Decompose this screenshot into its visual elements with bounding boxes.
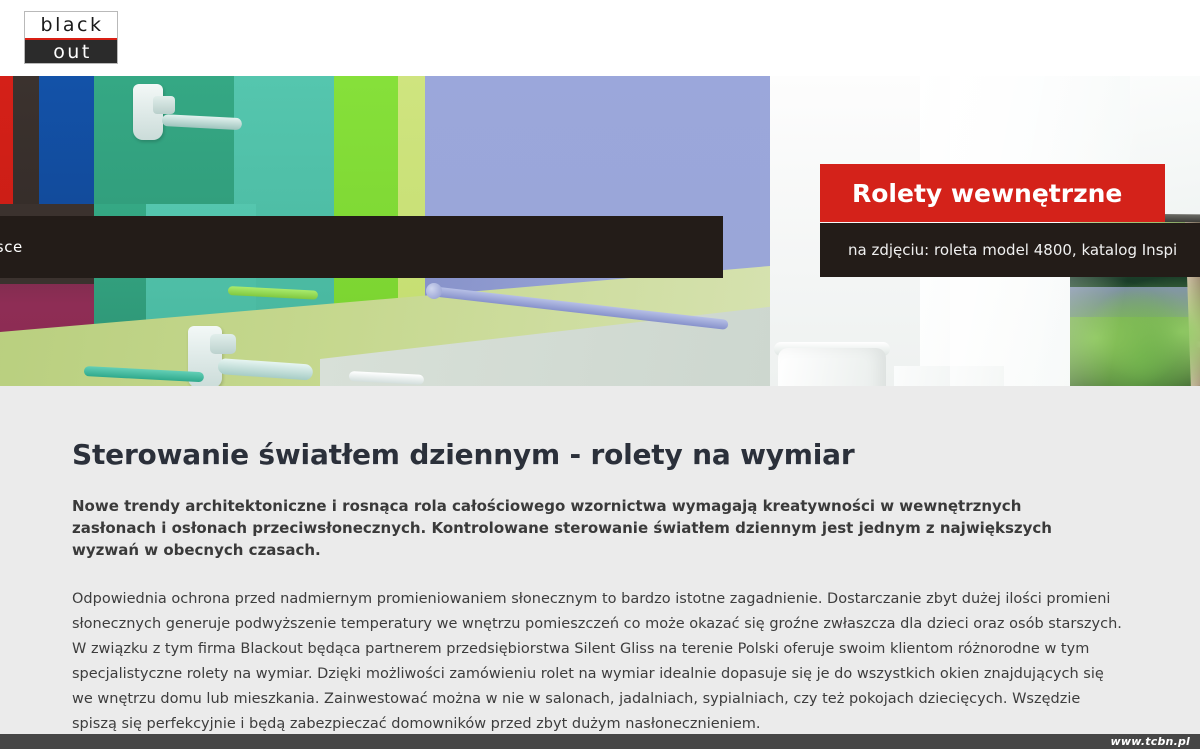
logo-text-out: out [50, 43, 92, 62]
page-title: Sterowanie światłem dziennym - rolety na… [72, 438, 1128, 471]
logo-bottom-block: out [25, 40, 117, 64]
planter-pot [778, 348, 886, 386]
watermark-bar: www.tcbn.pl [0, 734, 1200, 749]
logo-text-black: black [39, 16, 104, 35]
logo-top-block: black [25, 12, 117, 38]
hero-caption-text: na zdjęciu: roleta model 4800, katalog I… [848, 241, 1177, 259]
body-paragraph: Odpowiednia ochrona przed nadmiernym pro… [72, 587, 1128, 737]
site-header: black out [0, 0, 1200, 76]
page-root: black out [0, 0, 1200, 749]
hero-red-banner: Rolety wewnętrzne [820, 164, 1165, 222]
watermark-text: www.tcbn.pl [1111, 735, 1190, 748]
hero-caption-bar: na zdjęciu: roleta model 4800, katalog I… [820, 223, 1200, 277]
hero-carousel[interactable]: nt Gliss w Polsce Rolety wewnętrzne na z… [0, 76, 1200, 386]
blind-bracket-lower-cap [210, 334, 236, 354]
main-content: Sterowanie światłem dziennym - rolety na… [0, 386, 1200, 734]
partner-banner-regular: w Polsce [0, 238, 23, 256]
partner-banner-text: nt Gliss w Polsce [0, 238, 23, 256]
brand-logo[interactable]: black out [24, 11, 118, 64]
blind-endcap-lavender [426, 283, 442, 299]
intro-paragraph: Nowe trendy architektoniczne i rosnąca r… [72, 495, 1087, 561]
hero-red-banner-text: Rolety wewnętrzne [852, 179, 1122, 208]
partner-banner: nt Gliss w Polsce [0, 216, 723, 278]
blind-bracket-upper-cap [153, 96, 175, 114]
